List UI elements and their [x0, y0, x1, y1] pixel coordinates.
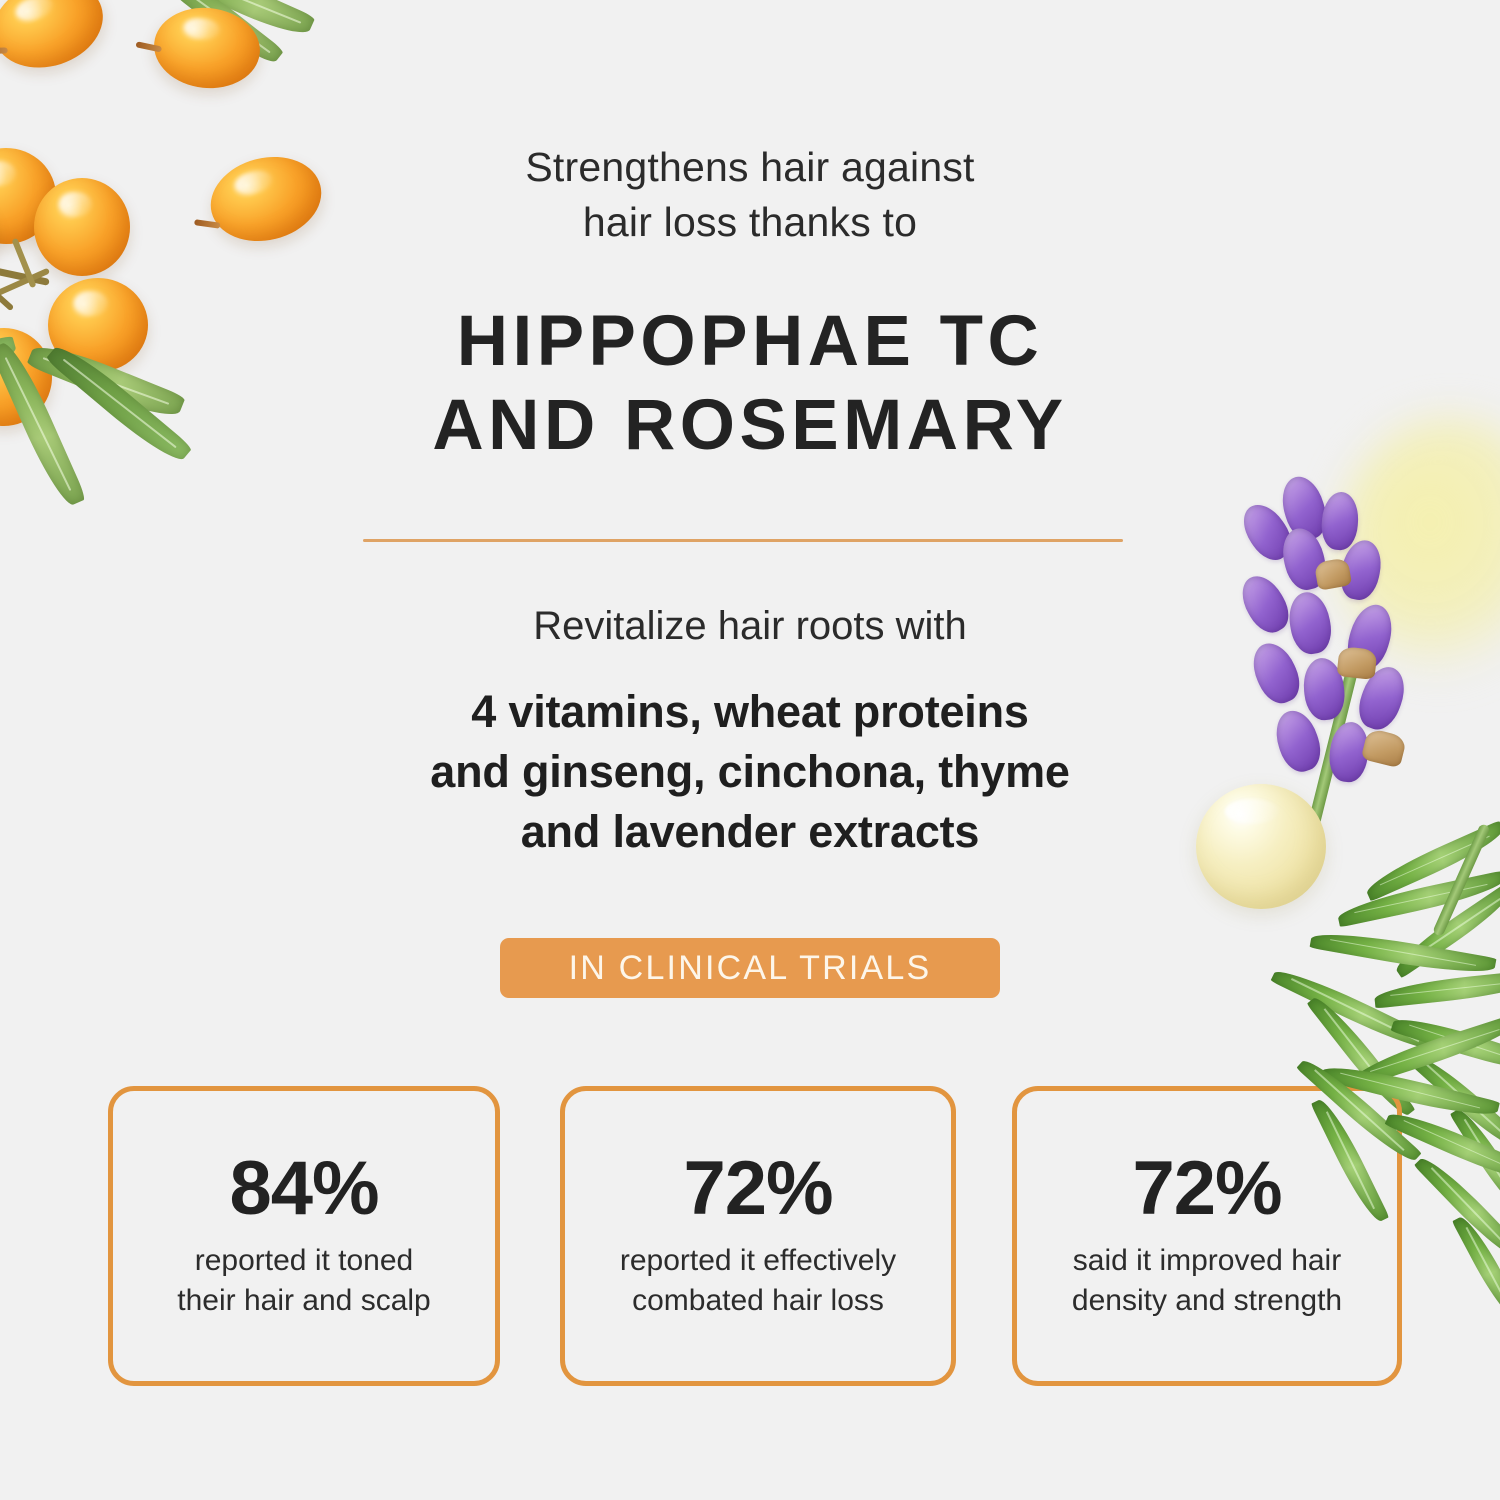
stats-row: 84% reported it toned their hair and sca… — [0, 1086, 1500, 1386]
clinical-trials-badge: IN CLINICAL TRIALS — [500, 938, 1000, 998]
lead-paragraph: Strengthens hair against hair loss thank… — [250, 140, 1250, 249]
stat-value: 72% — [683, 1151, 832, 1227]
ingredients-line-1: 4 vitamins, wheat proteins — [280, 682, 1220, 742]
ingredients-paragraph: 4 vitamins, wheat proteins and ginseng, … — [280, 682, 1220, 862]
stat-card: 72% reported it effectively combated hai… — [560, 1086, 956, 1386]
lead-line-1: Strengthens hair against — [250, 140, 1250, 195]
promo-content: Strengthens hair against hair loss thank… — [0, 0, 1500, 1500]
subheading: Revitalize hair roots with — [300, 600, 1200, 652]
promo-canvas: Strengthens hair against hair loss thank… — [0, 0, 1500, 1500]
stat-description-line-2: their hair and scalp — [177, 1281, 430, 1321]
divider — [363, 539, 1123, 542]
stat-card: 84% reported it toned their hair and sca… — [108, 1086, 500, 1386]
page-title: HIPPOPHAE TC AND ROSEMARY — [230, 300, 1270, 469]
stat-value: 72% — [1132, 1151, 1281, 1227]
stat-description-line-2: combated hair loss — [620, 1281, 896, 1321]
clinical-trials-badge-label: IN CLINICAL TRIALS — [569, 949, 932, 988]
stat-card: 72% said it improved hair density and st… — [1012, 1086, 1402, 1386]
headline-line-2: AND ROSEMARY — [230, 384, 1270, 468]
subheading-line-1: Revitalize hair roots with — [300, 600, 1200, 652]
stat-description-line-1: reported it toned — [177, 1241, 430, 1281]
stat-description-line-2: density and strength — [1072, 1281, 1342, 1321]
lead-line-2: hair loss thanks to — [250, 195, 1250, 250]
ingredients-line-3: and lavender extracts — [280, 802, 1220, 862]
stat-description-line-1: said it improved hair — [1072, 1241, 1342, 1281]
stat-description: reported it effectively combated hair lo… — [620, 1241, 896, 1321]
stat-description: reported it toned their hair and scalp — [177, 1241, 430, 1321]
ingredients-line-2: and ginseng, cinchona, thyme — [280, 742, 1220, 802]
stat-description-line-1: reported it effectively — [620, 1241, 896, 1281]
headline-line-1: HIPPOPHAE TC — [230, 300, 1270, 384]
stat-description: said it improved hair density and streng… — [1072, 1241, 1342, 1321]
stat-value: 84% — [229, 1151, 378, 1227]
